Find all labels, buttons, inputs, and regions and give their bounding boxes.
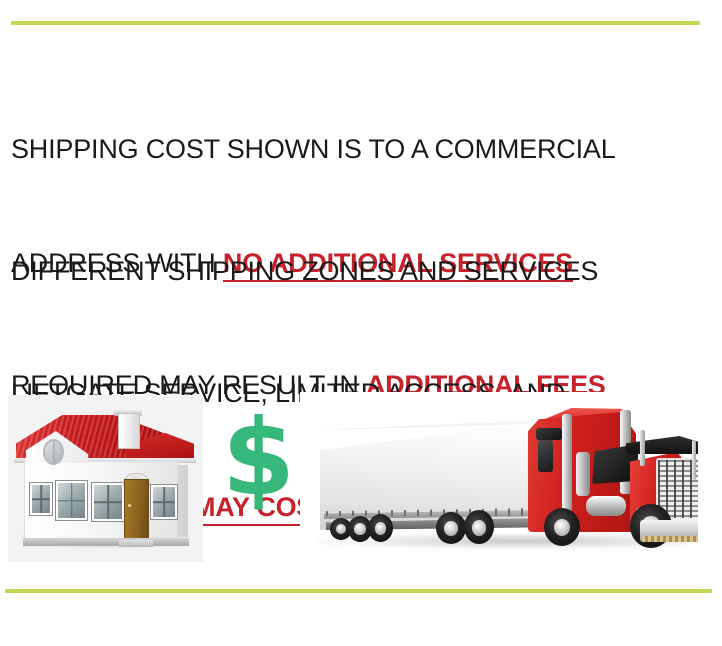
shipping-disclaimer-banner: SHIPPING COST SHOWN IS TO A COMMERCIAL A… bbox=[0, 0, 722, 646]
notice-1-line-1: SHIPPING COST SHOWN IS TO A COMMERCIAL bbox=[11, 130, 711, 168]
bottom-divider-rule bbox=[5, 589, 712, 593]
top-divider-rule bbox=[11, 21, 700, 25]
house-door-step bbox=[119, 540, 153, 547]
notice-2-line-1: DIFFERENT SHIPPING ZONES AND SERVICES bbox=[11, 252, 711, 290]
house-chimney bbox=[118, 413, 140, 449]
trailer-wheel-4 bbox=[436, 512, 466, 544]
bumper-trim-strip bbox=[642, 536, 698, 542]
fuel-tank bbox=[586, 496, 626, 516]
dollar-sign-icon: $ bbox=[222, 405, 292, 515]
windshield-visor bbox=[626, 436, 698, 454]
house-illustration bbox=[8, 395, 203, 562]
house-window-4 bbox=[151, 485, 177, 519]
sleeper-window bbox=[538, 440, 553, 472]
house-foundation bbox=[23, 538, 189, 546]
sleeper-window-upper bbox=[536, 428, 562, 440]
house-oval-window bbox=[43, 439, 64, 465]
house-window-3 bbox=[92, 483, 124, 521]
exhaust-stack-left bbox=[562, 414, 572, 512]
trailer-wheel-5 bbox=[464, 510, 494, 544]
imagery-row: $ bbox=[0, 390, 722, 575]
tractor-wheel-rear bbox=[544, 508, 580, 546]
semi-truck-photo bbox=[300, 392, 698, 568]
trailer-wheel-3 bbox=[368, 514, 393, 542]
house-window-2 bbox=[56, 481, 87, 520]
mirror-arm-left bbox=[640, 430, 645, 466]
house-window-1 bbox=[30, 483, 52, 515]
house-door bbox=[124, 479, 149, 543]
air-cleaner-canister bbox=[576, 452, 590, 496]
mirror-arm-right bbox=[692, 440, 696, 480]
house-photo bbox=[8, 395, 203, 562]
house-door-knob bbox=[128, 504, 131, 507]
